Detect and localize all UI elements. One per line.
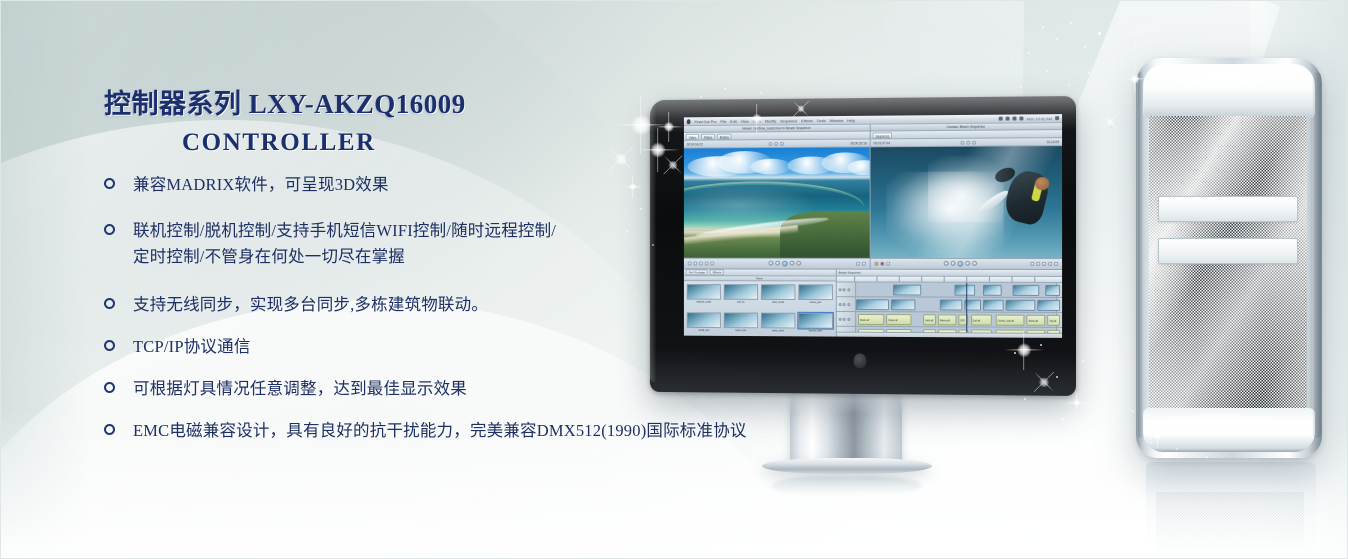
surfer-wave-preview xyxy=(871,146,1062,258)
clip-filmstrip xyxy=(984,300,1003,309)
clip-filmstrip xyxy=(892,300,915,309)
table-row[interactable]: Music.aif xyxy=(887,314,912,325)
feature-list: 兼容MADRIX软件，可呈现3D效果 联机控制/脱机控制/支持手机短信WIFI控… xyxy=(104,172,864,464)
table-row[interactable] xyxy=(940,299,963,310)
mark-out-icon[interactable] xyxy=(1036,262,1040,266)
optical-drive-slot-1[interactable] xyxy=(1158,196,1298,222)
clip-filmstrip xyxy=(1007,300,1034,309)
tower-right-edge xyxy=(1312,72,1321,438)
list-item: 兼容MADRIX软件，可呈现3D效果 xyxy=(104,172,864,198)
track-lane[interactable] xyxy=(856,297,1062,312)
track-lane[interactable] xyxy=(856,282,1062,296)
table-row[interactable]: Tail.aif xyxy=(1047,314,1060,325)
table-row[interactable] xyxy=(893,284,922,295)
list-item: EMC电磁兼容设计，具有良好的抗干扰能力，完美兼容DMX512(1990)国际标… xyxy=(104,418,864,444)
clip-filmstrip xyxy=(941,300,962,309)
match-frame-icon[interactable] xyxy=(1048,262,1052,266)
table-row[interactable] xyxy=(1045,284,1060,295)
zoom-popup-icon[interactable] xyxy=(960,140,964,144)
ring-bullet-icon xyxy=(104,178,115,189)
overwrite-edit-icon[interactable] xyxy=(880,262,884,266)
table-row[interactable] xyxy=(954,284,975,295)
list-item: TCP/IP协议通信 xyxy=(104,334,864,360)
ring-bullet-icon xyxy=(104,424,115,435)
table-row[interactable] xyxy=(891,299,916,310)
tower-reflection-mesh xyxy=(1156,492,1304,554)
play-around-current-icon[interactable] xyxy=(965,261,970,266)
view-options-icon[interactable] xyxy=(966,140,970,144)
table-row[interactable] xyxy=(983,299,1004,310)
canvas-right-buttons[interactable] xyxy=(1030,262,1058,266)
table-row[interactable]: Crowd_Loop.aif xyxy=(996,329,1025,333)
wifi-icon[interactable] xyxy=(1013,117,1017,121)
table-row[interactable] xyxy=(1012,284,1039,295)
timecode-options-icon[interactable] xyxy=(972,140,976,144)
table-row[interactable]: Tail.aif xyxy=(1047,329,1060,333)
menubar-clock[interactable]: Mon 10:42 AM xyxy=(1027,116,1053,121)
tower-top-panel xyxy=(1143,64,1315,118)
list-item: 支持无线同步，实现多台同步,多栋建筑物联动。 xyxy=(104,292,864,318)
title-subtitle: CONTROLLER xyxy=(104,129,664,157)
table-row[interactable]: Music.aif xyxy=(1027,329,1046,333)
clip-filmstrip xyxy=(894,285,921,294)
spotlight-search-icon[interactable] xyxy=(1055,116,1059,120)
display-icon[interactable] xyxy=(1006,117,1010,121)
clip-filmstrip xyxy=(1046,285,1059,294)
clip-filmstrip xyxy=(984,285,1001,294)
feature-text: 可根据灯具情况任意调整，达到最佳显示效果 xyxy=(133,376,467,402)
clip-filmstrip xyxy=(955,285,974,294)
table-row[interactable]: Surf.aif xyxy=(971,314,992,325)
go-to-previous-edit-icon[interactable] xyxy=(943,261,948,266)
table-row[interactable]: Music.aif xyxy=(1027,314,1046,325)
clip-filmstrip xyxy=(1038,300,1059,309)
surfer-head xyxy=(1035,177,1050,189)
feature-text: EMC电磁兼容设计，具有良好的抗干扰能力，完美兼容DMX512(1990)国际标… xyxy=(133,418,747,444)
ring-bullet-icon xyxy=(104,382,115,393)
go-to-next-edit-icon[interactable] xyxy=(972,261,977,266)
table-row[interactable]: Crowd_Loop.aif xyxy=(996,314,1025,325)
ring-bullet-icon xyxy=(104,298,115,309)
feature-text: 联机控制/脱机控制/支持手机短信WIFI控制/随时远程控制/ 定时控制/不管身在… xyxy=(133,218,556,270)
replace-edit-icon[interactable] xyxy=(886,262,890,266)
battery-icon[interactable] xyxy=(1020,116,1024,120)
spray-main xyxy=(886,171,1004,253)
optical-drive-slot-2[interactable] xyxy=(1158,238,1298,264)
mark-in-icon[interactable] xyxy=(1030,262,1034,266)
feature-text: TCP/IP协议通信 xyxy=(133,334,251,360)
product-banner: Final Cut Pro File Edit View Mark Modify… xyxy=(0,0,1348,559)
canvas-panel: Canvas: Beach Sequence Sequence 00:01:07… xyxy=(871,123,1062,269)
banner-copy: 控制器系列 LXY-AKZQ16009 CONTROLLER 兼容MADRIX软… xyxy=(0,0,880,559)
play-in-to-out-icon[interactable] xyxy=(950,261,955,266)
desktop-tower xyxy=(1136,58,1322,458)
sparkle-icon xyxy=(1096,108,1124,136)
table-row[interactable] xyxy=(983,284,1002,295)
add-marker-icon[interactable] xyxy=(1042,262,1046,266)
tower-left-edge xyxy=(1138,72,1144,438)
title-main: 控制器系列 LXY-AKZQ16009 xyxy=(104,82,664,121)
ring-bullet-icon xyxy=(104,224,115,235)
table-row[interactable]: Amb.aif xyxy=(923,314,935,325)
table-row[interactable]: Waves.aif xyxy=(938,314,957,325)
table-row[interactable] xyxy=(1006,299,1035,310)
bluetooth-icon[interactable] xyxy=(999,117,1003,121)
playhead[interactable] xyxy=(967,283,968,333)
table-row[interactable]: Surf.aif xyxy=(971,329,992,333)
canvas-timecode-right[interactable]: 01:14:09 xyxy=(1047,140,1059,144)
track-lane[interactable]: Music.aif Music.aif Amb.aif Waves.aif SF… xyxy=(856,312,1062,327)
list-item: 联机控制/脱机控制/支持手机短信WIFI控制/随时远程控制/ 定时控制/不管身在… xyxy=(104,218,864,270)
table-row[interactable] xyxy=(1037,299,1060,310)
menubar-status-area: Mon 10:42 AM xyxy=(999,116,1059,121)
list-item: 可根据灯具情况任意调整，达到最佳显示效果 xyxy=(104,376,864,402)
canvas-transport-controls[interactable] xyxy=(943,261,976,267)
clip-filmstrip xyxy=(1013,285,1038,294)
page-title: 控制器系列 LXY-AKZQ16009 CONTROLLER xyxy=(104,82,664,157)
add-keyframe-icon[interactable] xyxy=(1054,262,1058,266)
feature-text: 兼容MADRIX软件，可呈现3D效果 xyxy=(133,172,389,198)
canvas-transport-bar[interactable] xyxy=(871,258,1062,269)
canvas-toolbar-buttons[interactable] xyxy=(960,140,976,144)
ring-bullet-icon xyxy=(104,340,115,351)
tower-bottom-panel xyxy=(1143,408,1315,452)
clip-filmstrip xyxy=(965,300,980,309)
feature-text: 支持无线同步，实现多台同步,多栋建筑物联动。 xyxy=(133,292,488,318)
play-button-icon[interactable] xyxy=(957,261,963,267)
